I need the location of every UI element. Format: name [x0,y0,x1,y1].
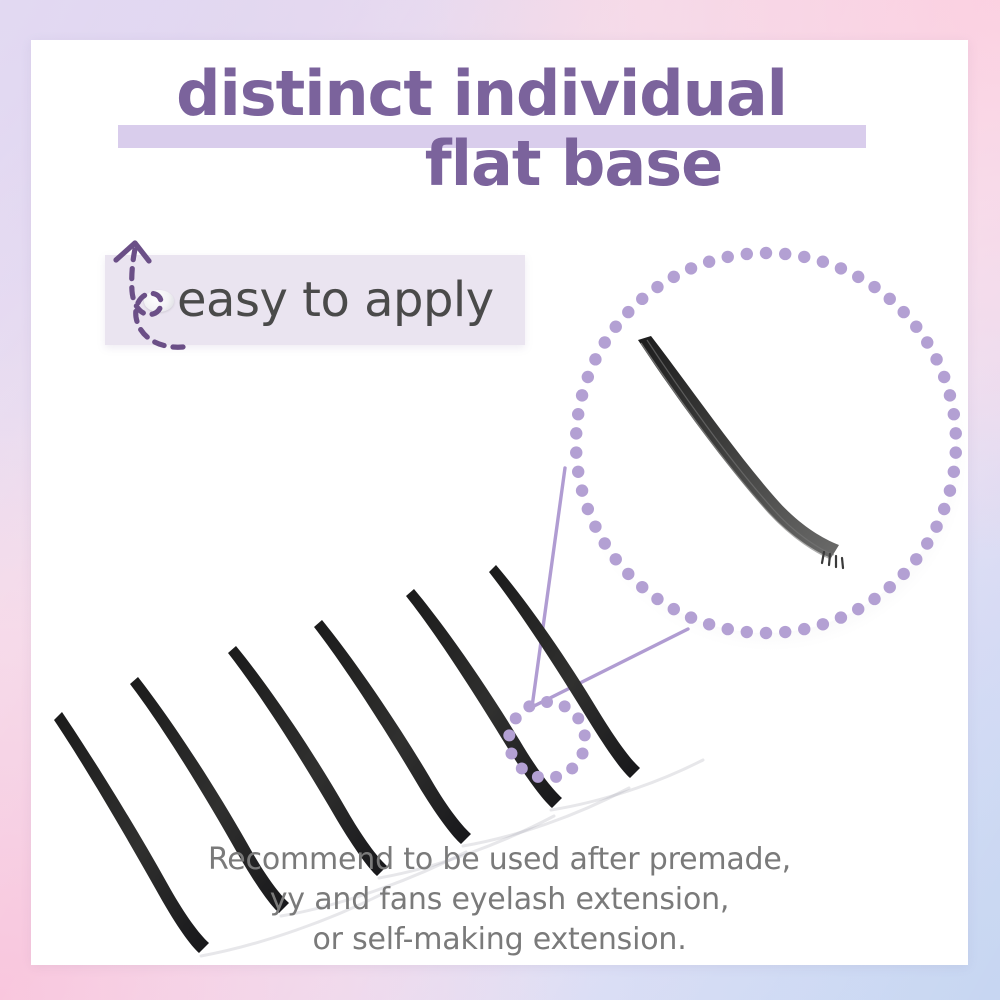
arrow-curved-dashed-icon [91,225,231,365]
white-content-card: distinct individual flat base easy to ap… [31,40,968,965]
product-infographic: distinct individual flat base easy to ap… [0,0,1000,1000]
page-title-line1: distinct individual [31,62,932,126]
footer-line-3: or self-making extension. [31,920,968,960]
footer-line-1: Recommend to be used after premade, [31,840,968,880]
page-title-line2: flat base [31,132,932,196]
footer-line-2: yy and fans eyelash extension, [31,880,968,920]
footer-text: Recommend to be used after premade, yy a… [31,840,968,960]
